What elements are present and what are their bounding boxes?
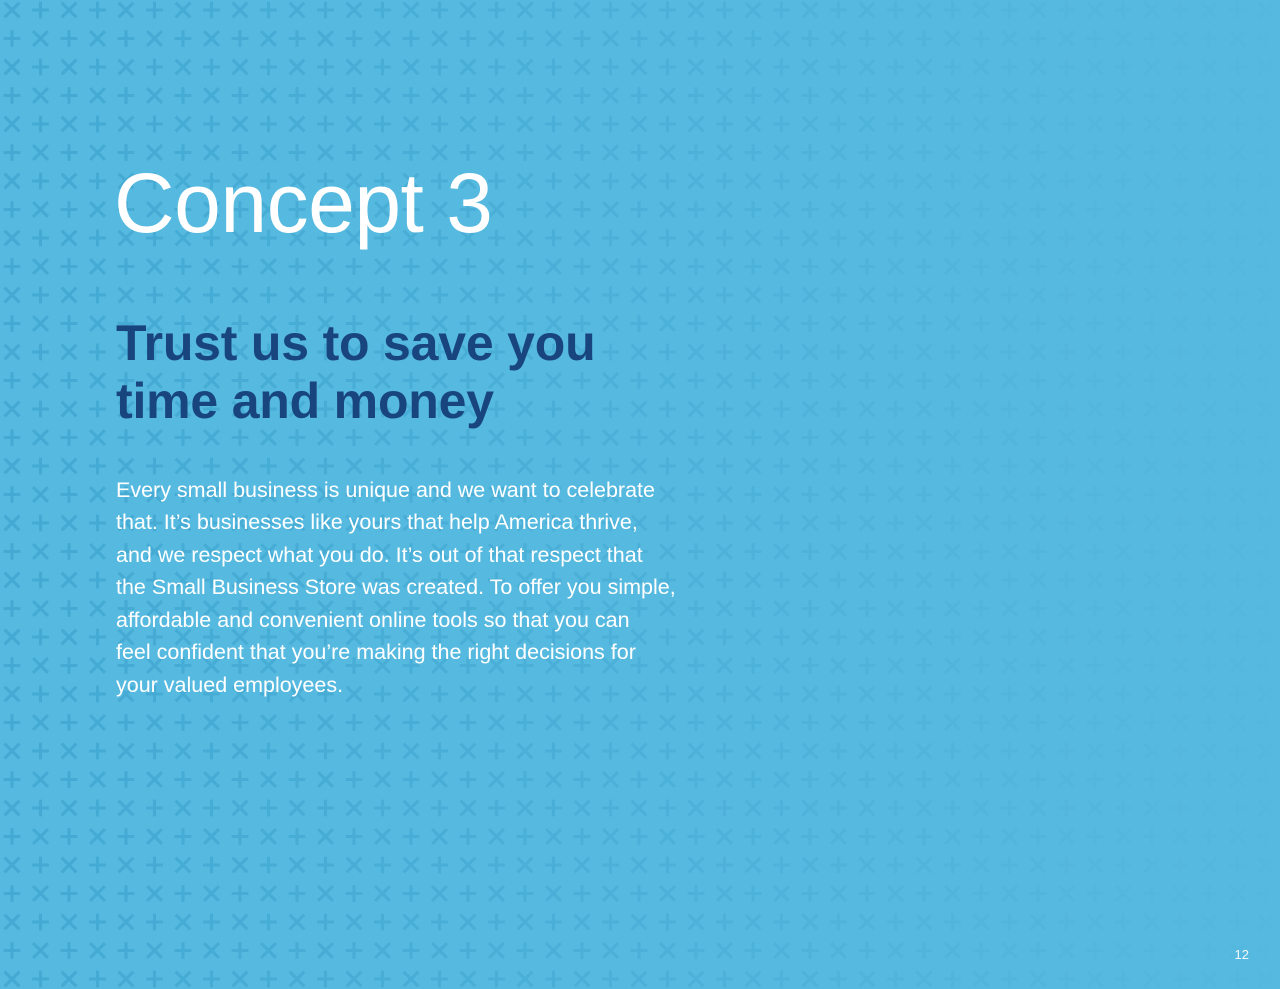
body-line-4: the Small Business Store was created. To… — [116, 571, 806, 604]
body-line-1: Every small business is unique and we wa… — [116, 474, 806, 507]
body-paragraph: Every small business is unique and we wa… — [116, 474, 806, 702]
page-number: 12 — [1235, 948, 1249, 961]
headline-line-1: Trust us to save you — [116, 314, 736, 372]
body-line-7: your valued employees. — [116, 669, 806, 702]
slide-content: Concept 3 Trust us to save you time and … — [0, 0, 1280, 989]
concept-title: Concept 3 — [114, 161, 492, 247]
headline: Trust us to save you time and money — [116, 314, 736, 430]
headline-line-2: time and money — [116, 372, 736, 430]
body-line-6: feel confident that you’re making the ri… — [116, 636, 806, 669]
slide-canvas: Concept 3 Trust us to save you time and … — [0, 0, 1280, 989]
body-line-2: that. It’s businesses like yours that he… — [116, 506, 806, 539]
body-line-3: and we respect what you do. It’s out of … — [116, 539, 806, 572]
body-line-5: affordable and convenient online tools s… — [116, 604, 806, 637]
